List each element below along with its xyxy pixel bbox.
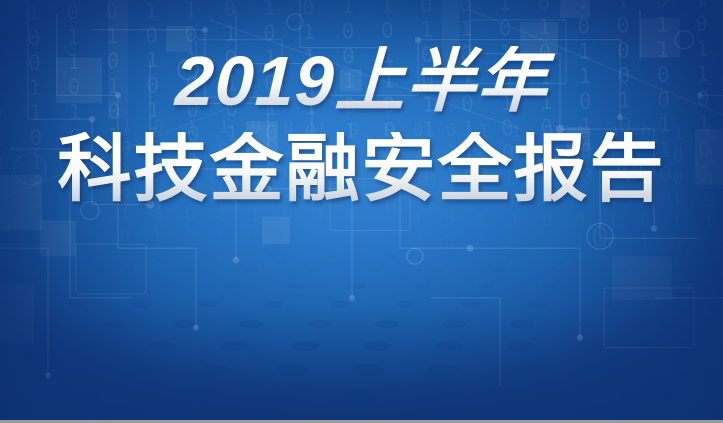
background-vignette bbox=[0, 0, 723, 420]
report-cover-slide: 0 1 0 0 1 1 0 1 0 1 1 0 0 1 0 1 1 0 1 0 … bbox=[0, 0, 723, 423]
